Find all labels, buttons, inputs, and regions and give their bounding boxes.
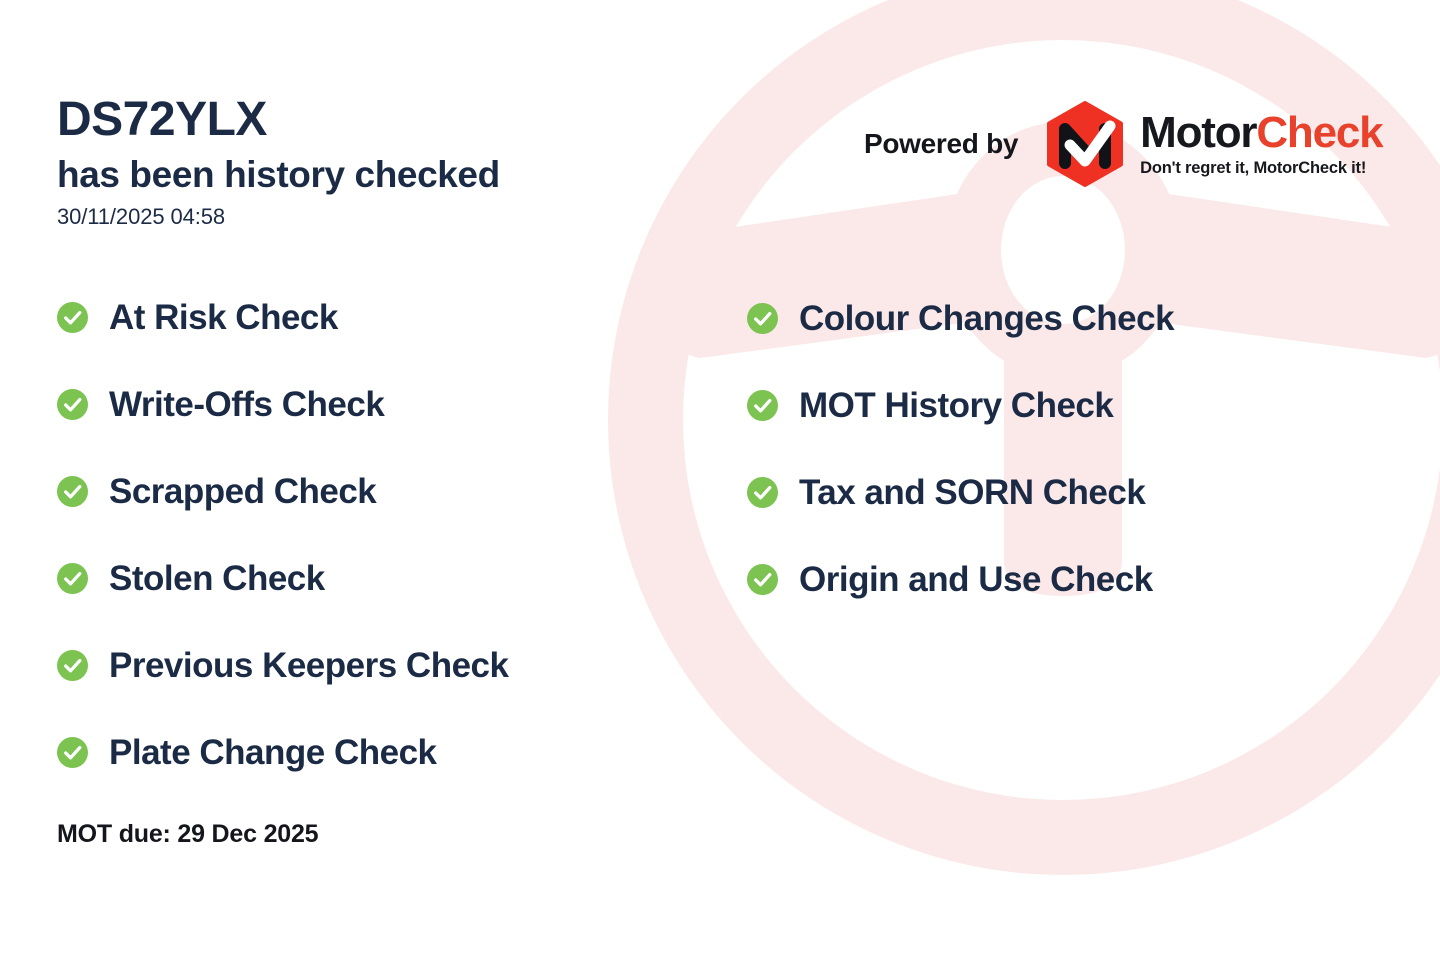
check-circle-icon [747, 477, 778, 508]
checks-right-column: Colour Changes Check MOT History Check T… [747, 293, 1174, 641]
check-item-label: Stolen Check [109, 561, 325, 596]
check-item-label: Write-Offs Check [109, 387, 384, 422]
check-item-label: Scrapped Check [109, 474, 376, 509]
check-item-label: MOT History Check [799, 388, 1113, 423]
check-circle-icon [57, 389, 88, 420]
brand-name-secondary: Check [1256, 108, 1382, 157]
check-circle-icon [57, 302, 88, 333]
check-item-label: Previous Keepers Check [109, 648, 508, 683]
vehicle-registration-title: DS72YLX [57, 96, 500, 144]
header-block: DS72YLX has been history checked 30/11/2… [57, 96, 500, 230]
check-item-label: At Risk Check [109, 300, 338, 335]
check-list-item: At Risk Check [57, 292, 508, 342]
check-item-label: Origin and Use Check [799, 562, 1153, 597]
checks-left-column: At Risk Check Write-Offs Check Scrapped … [57, 292, 508, 814]
check-item-label: Plate Change Check [109, 735, 437, 770]
motorcheck-hexagon-logo-icon [1042, 101, 1128, 187]
check-list-item: Write-Offs Check [57, 379, 508, 429]
check-item-label: Tax and SORN Check [799, 475, 1145, 510]
brand-name: MotorCheck [1140, 111, 1382, 155]
check-list-item: MOT History Check [747, 380, 1174, 430]
check-circle-icon [57, 650, 88, 681]
check-circle-icon [57, 737, 88, 768]
check-list-item: Plate Change Check [57, 727, 508, 777]
check-list-item: Stolen Check [57, 553, 508, 603]
check-circle-icon [747, 303, 778, 334]
powered-by-label: Powered by [864, 128, 1018, 160]
history-check-banner: DS72YLX has been history checked 30/11/2… [0, 0, 1440, 960]
check-list-item: Origin and Use Check [747, 554, 1174, 604]
motorcheck-wordmark: MotorCheck Don't regret it, MotorCheck i… [1140, 111, 1382, 178]
check-list-item: Scrapped Check [57, 466, 508, 516]
check-circle-icon [57, 476, 88, 507]
check-list-item: Tax and SORN Check [747, 467, 1174, 517]
check-circle-icon [747, 564, 778, 595]
check-item-label: Colour Changes Check [799, 301, 1174, 336]
headline-subtitle: has been history checked [57, 154, 500, 195]
mot-due-label: MOT due: 29 Dec 2025 [57, 820, 318, 849]
check-list-item: Previous Keepers Check [57, 640, 508, 690]
brand-tagline: Don't regret it, MotorCheck it! [1140, 159, 1382, 178]
check-timestamp: 30/11/2025 04:58 [57, 204, 500, 230]
brand-name-primary: Motor [1140, 108, 1256, 157]
check-circle-icon [747, 390, 778, 421]
powered-by-branding: Powered by MotorCheck Don't regret it, M… [864, 101, 1382, 187]
check-list-item: Colour Changes Check [747, 293, 1174, 343]
check-circle-icon [57, 563, 88, 594]
